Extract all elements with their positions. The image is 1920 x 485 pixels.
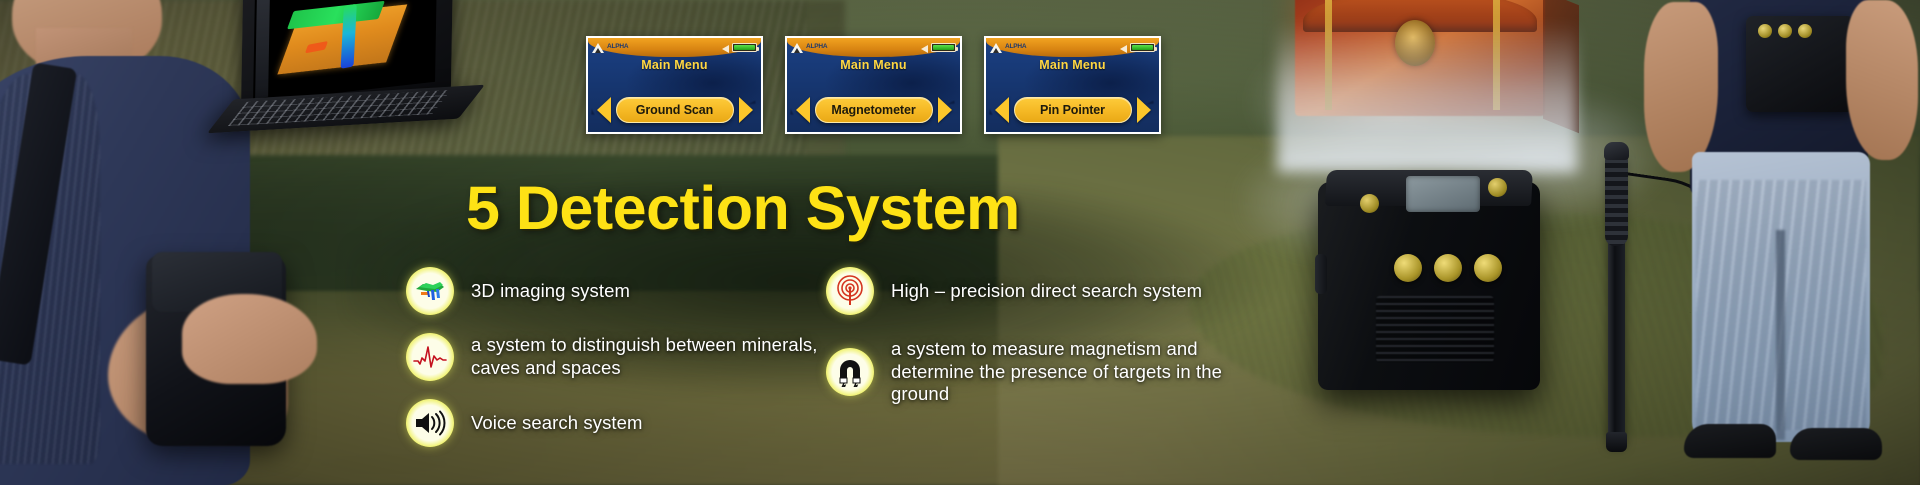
person-right-shoe-left xyxy=(1684,424,1776,458)
person-right-arm-right xyxy=(1846,0,1918,160)
detector-top-knob-left xyxy=(1360,194,1379,213)
probe-cap xyxy=(1604,142,1629,160)
feature-list-left: 3D imaging system a system to distinguis… xyxy=(406,262,826,452)
person-hand xyxy=(182,294,317,384)
panel-status-indicators xyxy=(921,43,956,52)
horseshoe-magnet-icon xyxy=(826,348,874,396)
speaker-sound-icon xyxy=(406,399,454,447)
chevron-left-icon[interactable] xyxy=(796,97,810,123)
detection-system-banner: ALPHA Main Menu Ground Scan A xyxy=(0,0,1920,485)
3d-ground-scan-plot xyxy=(278,0,410,82)
person-with-handheld-probe xyxy=(1650,0,1920,485)
pouch-knob-1 xyxy=(1758,24,1772,38)
feature-item-magnetism-measurement: a system to measure magnetism and determ… xyxy=(826,338,1256,406)
speaker-icon xyxy=(722,43,730,52)
mode-button[interactable]: Ground Scan xyxy=(616,97,734,123)
software-toolbar xyxy=(255,0,270,98)
battery-full-icon xyxy=(1130,43,1155,52)
probe-tip xyxy=(1606,432,1627,452)
speaker-icon xyxy=(921,43,929,52)
detector-handle xyxy=(1315,254,1327,294)
pouch-knob-row xyxy=(1758,24,1812,38)
mode-button[interactable]: Pin Pointer xyxy=(1014,97,1132,123)
detector-top-knob-right xyxy=(1488,178,1507,197)
feature-label: 3D imaging system xyxy=(471,280,630,303)
panel-logo: ALPHA xyxy=(592,42,628,53)
3d-terrain-scan-icon xyxy=(406,267,454,315)
panel-status-indicators xyxy=(722,43,757,52)
detector-knob-2 xyxy=(1434,254,1462,282)
device-panel-pin-pointer[interactable]: ALPHA Main Menu Pin Pointer xyxy=(984,36,1161,134)
device-screen-panels: ALPHA Main Menu Ground Scan A xyxy=(586,36,1161,134)
mountain-logo-icon xyxy=(592,42,605,53)
panel-mode-selector[interactable]: Ground Scan xyxy=(588,97,761,123)
feature-item-3d-imaging: 3D imaging system xyxy=(406,262,826,320)
person-right-shoe-right xyxy=(1790,428,1882,460)
feature-item-high-precision-search: High – precision direct search system xyxy=(826,262,1256,320)
panel-menu-title: Main Menu xyxy=(588,58,761,72)
page-title: 5 Detection System xyxy=(466,178,1020,239)
hologram-fade xyxy=(1277,22,1577,172)
antenna-signal-icon xyxy=(826,267,874,315)
mountain-logo-icon xyxy=(791,42,804,53)
feature-label: a system to measure magnetism and determ… xyxy=(891,338,1256,406)
laptop xyxy=(150,0,450,163)
pouch-knob-2 xyxy=(1778,24,1792,38)
chevron-right-icon[interactable] xyxy=(739,97,753,123)
feature-item-voice-search: Voice search system xyxy=(406,394,826,452)
panel-mode-selector[interactable]: Pin Pointer xyxy=(986,97,1159,123)
detector-knob-3 xyxy=(1474,254,1502,282)
chevron-left-icon[interactable] xyxy=(995,97,1009,123)
feature-label: High – precision direct search system xyxy=(891,280,1202,303)
feature-list-right: High – precision direct search system a … xyxy=(826,262,1256,406)
mode-button[interactable]: Magnetometer xyxy=(815,97,933,123)
feature-label: a system to distinguish between minerals… xyxy=(471,334,826,379)
logo-text: ALPHA xyxy=(607,44,628,51)
detector-display xyxy=(1406,176,1480,212)
person-right-legs-gap xyxy=(1776,230,1785,440)
pouch-knob-3 xyxy=(1798,24,1812,38)
feature-label: Voice search system xyxy=(471,412,643,435)
detector-vent-grille xyxy=(1376,296,1494,362)
panel-mode-selector[interactable]: Magnetometer xyxy=(787,97,960,123)
panel-logo: ALPHA xyxy=(791,42,827,53)
waveform-pulse-icon xyxy=(406,333,454,381)
person-right-arm-left xyxy=(1644,2,1718,172)
handheld-probe xyxy=(1600,128,1634,448)
probe-grip xyxy=(1605,150,1628,246)
panel-logo: ALPHA xyxy=(990,42,1026,53)
detector-knob-1 xyxy=(1394,254,1422,282)
chevron-left-icon[interactable] xyxy=(597,97,611,123)
panel-status-indicators xyxy=(1120,43,1155,52)
logo-text: ALPHA xyxy=(806,44,827,51)
battery-full-icon xyxy=(732,43,757,52)
treasure-chest-hologram xyxy=(1295,0,1575,166)
portable-detector-unit xyxy=(1318,168,1548,393)
feature-item-mineral-discrimination: a system to distinguish between minerals… xyxy=(406,328,826,386)
device-panel-ground-scan[interactable]: ALPHA Main Menu Ground Scan xyxy=(586,36,763,134)
logo-text: ALPHA xyxy=(1005,44,1026,51)
panel-menu-title: Main Menu xyxy=(787,58,960,72)
device-panel-magnetometer[interactable]: ALPHA Main Menu Magnetometer xyxy=(785,36,962,134)
battery-full-icon xyxy=(931,43,956,52)
chevron-right-icon[interactable] xyxy=(1137,97,1151,123)
chevron-right-icon[interactable] xyxy=(938,97,952,123)
mountain-logo-icon xyxy=(990,42,1003,53)
detector-knob-row xyxy=(1394,254,1504,284)
panel-menu-title: Main Menu xyxy=(986,58,1159,72)
speaker-icon xyxy=(1120,43,1128,52)
